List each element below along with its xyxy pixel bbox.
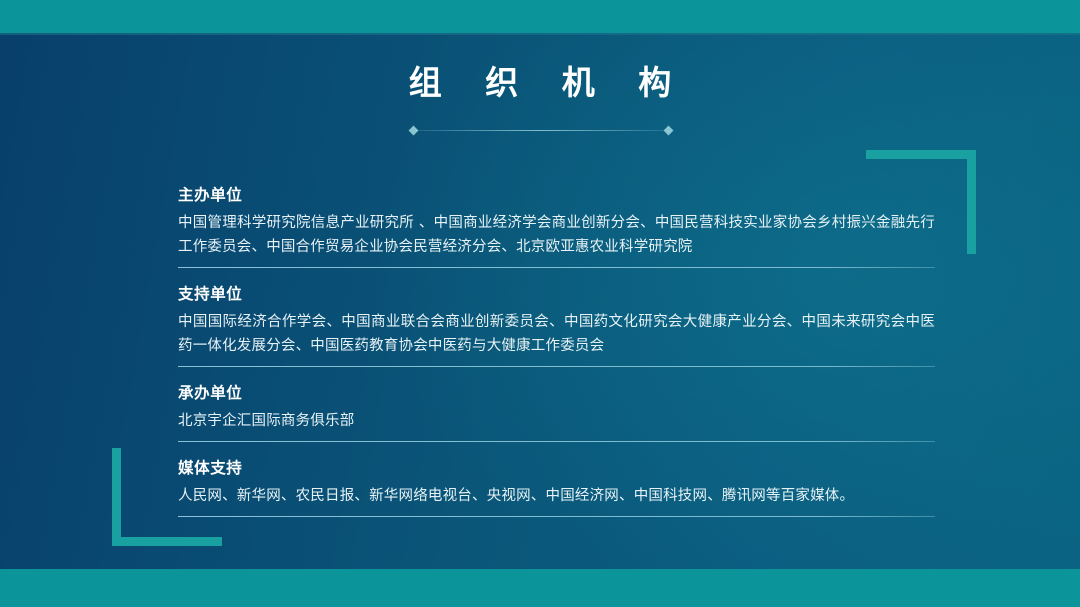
slide-canvas: 组 织 机 构 主办单位 中国管理科学研究院信息产业研究所 、中国商业经济学会商… xyxy=(0,0,1080,607)
section-heading: 支持单位 xyxy=(178,282,935,306)
organization-sections: 主办单位 中国管理科学研究院信息产业研究所 、中国商业经济学会商业创新分会、中国… xyxy=(178,183,935,517)
section-heading: 主办单位 xyxy=(178,183,935,207)
section-media-support: 媒体支持 人民网、新华网、农民日报、新华网络电视台、央视网、中国经济网、中国科技… xyxy=(178,456,935,517)
title-rule-line xyxy=(415,130,667,131)
section-body: 北京宇企汇国际商务俱乐部 xyxy=(178,409,935,433)
section-supporters: 支持单位 中国国际经济合作学会、中国商业联合会商业创新委员会、中国药文化研究会大… xyxy=(178,282,935,367)
section-body: 人民网、新华网、农民日报、新华网络电视台、央视网、中国经济网、中国科技网、腾讯网… xyxy=(178,484,935,508)
title-underline-decoration xyxy=(410,125,672,137)
section-divider xyxy=(178,441,935,442)
section-divider xyxy=(178,516,935,517)
section-body: 中国管理科学研究院信息产业研究所 、中国商业经济学会商业创新分会、中国民营科技实… xyxy=(178,211,935,259)
bottom-accent-bar xyxy=(0,569,1080,607)
section-heading: 媒体支持 xyxy=(178,456,935,480)
section-host: 承办单位 北京宇企汇国际商务俱乐部 xyxy=(178,381,935,442)
top-accent-bar xyxy=(0,0,1080,33)
section-divider xyxy=(178,267,935,268)
section-organizers: 主办单位 中国管理科学研究院信息产业研究所 、中国商业经济学会商业创新分会、中国… xyxy=(178,183,935,268)
section-body: 中国国际经济合作学会、中国商业联合会商业创新委员会、中国药文化研究会大健康产业分… xyxy=(178,310,935,358)
title-rule-right-diamond-icon xyxy=(664,126,674,136)
section-heading: 承办单位 xyxy=(178,381,935,405)
page-title: 组 织 机 构 xyxy=(0,60,1080,106)
top-accent-bar-edge xyxy=(0,33,1080,35)
section-divider xyxy=(178,366,935,367)
